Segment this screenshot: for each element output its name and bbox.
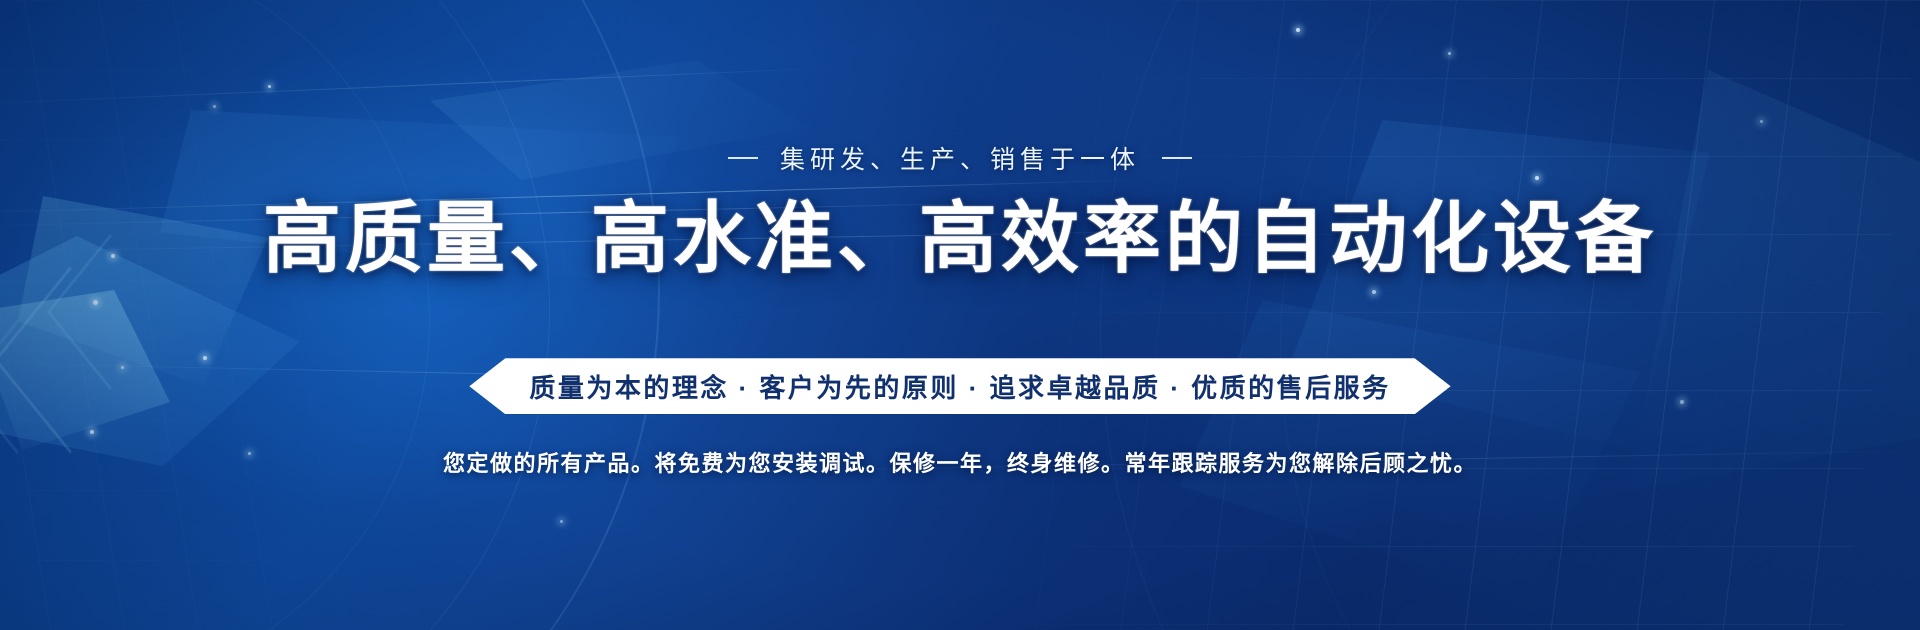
banner-ribbon: 质量为本的理念 · 客户为先的原则 · 追求卓越品质 · 优质的售后服务 [469, 358, 1450, 414]
eyebrow-rule-right-icon [1162, 157, 1192, 159]
banner-tagline: 您定做的所有产品。将免费为您安装调试。保修一年，终身维修。常年跟踪服务为您解除后… [443, 446, 1477, 478]
eyebrow-rule-left-icon [728, 157, 758, 159]
banner-headline: 高质量、高水准、高效率的自动化设备 [263, 200, 1657, 278]
eyebrow-label: 集研发、生产、销售于一体 [780, 140, 1140, 176]
banner-ribbon-wrap: 质量为本的理念 · 客户为先的原则 · 追求卓越品质 · 优质的售后服务 [469, 358, 1450, 414]
banner-ribbon-text: 质量为本的理念 · 客户为先的原则 · 追求卓越品质 · 优质的售后服务 [529, 368, 1390, 405]
banner-eyebrow: 集研发、生产、销售于一体 [728, 140, 1192, 176]
hero-banner: 集研发、生产、销售于一体 高质量、高水准、高效率的自动化设备 质量为本的理念 ·… [0, 0, 1920, 630]
banner-content: 集研发、生产、销售于一体 高质量、高水准、高效率的自动化设备 质量为本的理念 ·… [0, 0, 1920, 630]
